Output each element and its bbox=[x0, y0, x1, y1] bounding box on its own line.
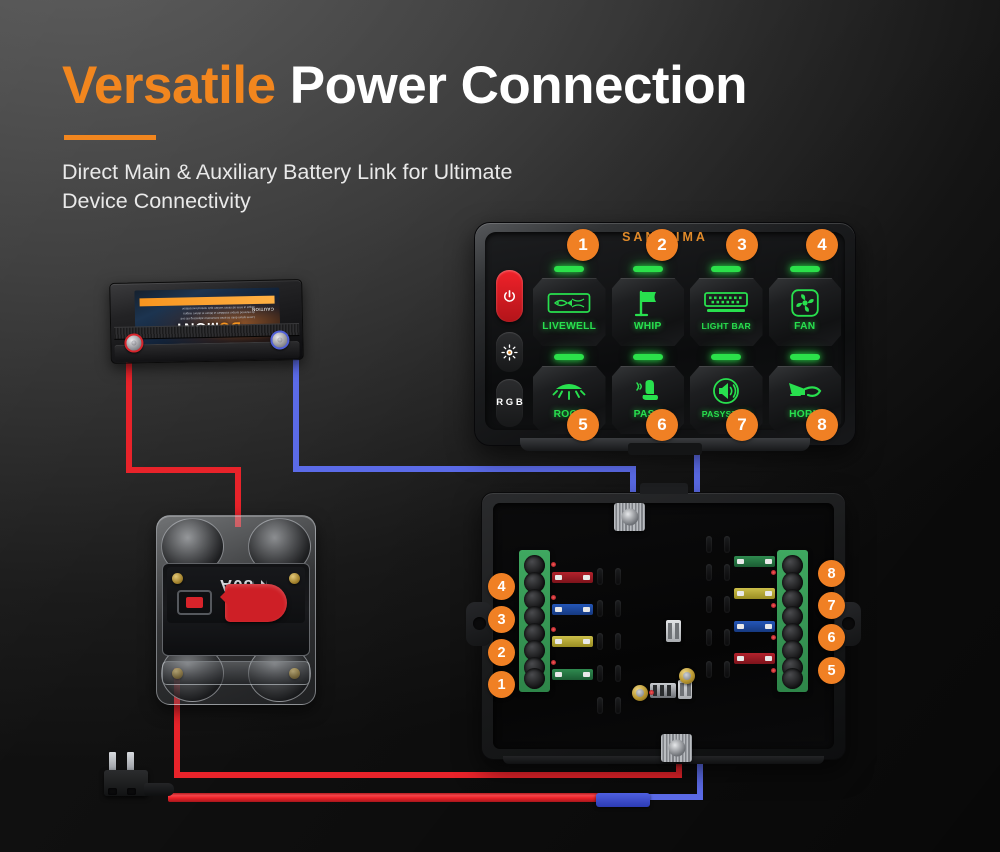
fuse-lamp-right-6 bbox=[771, 635, 776, 640]
breaker-terminal-screw-top-left[interactable] bbox=[172, 573, 183, 584]
terminal-block-right[interactable] bbox=[777, 550, 808, 692]
fusebox-top-tab bbox=[640, 483, 688, 494]
breaker-reset-button[interactable] bbox=[177, 590, 212, 615]
switch-key-2[interactable]: WHIP bbox=[612, 266, 685, 346]
diagram-canvas: Versatile Power Connection Direct Main &… bbox=[0, 0, 1000, 852]
switch-key-1[interactable]: LIVEWELL bbox=[533, 266, 606, 346]
relay-slot bbox=[597, 600, 603, 617]
fuse-left-4[interactable] bbox=[552, 572, 593, 583]
breaker-lower-band bbox=[162, 661, 310, 685]
page-title: Versatile Power Connection bbox=[62, 58, 942, 114]
led-indicator-3 bbox=[711, 266, 741, 272]
terminal-inner bbox=[131, 340, 136, 345]
badge-text: 7 bbox=[737, 415, 746, 435]
flag-icon bbox=[612, 288, 685, 318]
callout-badge-panel-8: 8 bbox=[806, 409, 838, 441]
callout-badge-fusebox-2: 2 bbox=[488, 639, 515, 666]
mount-hole bbox=[842, 617, 855, 630]
mount-hole bbox=[473, 617, 486, 630]
breaker-face: 80A bbox=[162, 563, 310, 656]
callout-badge-fusebox-5: 5 bbox=[818, 657, 845, 684]
title-rest: Power Connection bbox=[290, 56, 747, 115]
callout-badge-panel-7: 7 bbox=[726, 409, 758, 441]
fuse-right-6[interactable] bbox=[734, 621, 775, 632]
callout-badge-fusebox-4: 4 bbox=[488, 573, 515, 600]
relay-slot bbox=[706, 661, 712, 678]
breaker-trip-lever[interactable] bbox=[225, 584, 287, 622]
key-label-4: FAN bbox=[769, 321, 842, 332]
relay-slot bbox=[706, 629, 712, 646]
fuse-left-3[interactable] bbox=[552, 604, 593, 615]
fusebox-mid-connector[interactable] bbox=[666, 620, 681, 642]
badge-text: 2 bbox=[497, 645, 505, 661]
switch-key-4[interactable]: FAN bbox=[769, 266, 842, 346]
relay-slot bbox=[615, 697, 621, 714]
title-highlight: Versatile bbox=[62, 56, 276, 115]
switch-row-top: LIVEWELL WHIP bbox=[530, 266, 844, 346]
wire-red-battery-to-breaker-vertical bbox=[126, 355, 132, 473]
panel-bottom-tab bbox=[628, 443, 702, 455]
badge-text: 5 bbox=[827, 663, 835, 679]
badge-text: 4 bbox=[817, 235, 826, 255]
callout-badge-panel-6: 6 bbox=[646, 409, 678, 441]
fuse-right-5[interactable] bbox=[734, 653, 775, 664]
speaker-icon bbox=[690, 376, 763, 406]
fuse-lamp-right-8 bbox=[771, 570, 776, 575]
badge-text: 3 bbox=[497, 612, 505, 628]
wire-red-battery-to-breaker-horizontal bbox=[126, 467, 241, 473]
badge-text: 5 bbox=[578, 415, 587, 435]
fusebox-top-power-post[interactable] bbox=[614, 503, 645, 531]
fan-icon bbox=[769, 288, 842, 318]
rgb-button-label: R G B bbox=[496, 397, 522, 408]
plug-socket-right bbox=[127, 788, 136, 795]
led-indicator-1 bbox=[554, 266, 584, 272]
led-indicator-4 bbox=[790, 266, 820, 272]
terminal-port[interactable] bbox=[524, 668, 545, 689]
fusebox-status-lamp bbox=[649, 690, 654, 695]
light-bar-icon bbox=[690, 288, 763, 318]
key-cap-3[interactable]: LIGHT BAR bbox=[690, 278, 763, 346]
led-indicator-2 bbox=[633, 266, 663, 272]
relay-slot bbox=[615, 568, 621, 585]
badge-text: 8 bbox=[827, 566, 835, 582]
post-nut bbox=[668, 740, 685, 757]
battery-caution-text: CAUTION bbox=[252, 307, 274, 312]
fuse-left-1[interactable] bbox=[552, 669, 593, 680]
badge-text: 1 bbox=[497, 677, 505, 693]
header: Versatile Power Connection Direct Main &… bbox=[62, 58, 942, 215]
relay-slot bbox=[597, 665, 603, 682]
terminal-block-left[interactable] bbox=[519, 550, 550, 692]
fuse-lamp-left-3 bbox=[551, 595, 556, 600]
add-a-circuit-fuse-tap[interactable] bbox=[100, 752, 152, 808]
fusebox-bottom-power-post[interactable] bbox=[661, 734, 692, 762]
fuse-right-8[interactable] bbox=[734, 556, 775, 567]
nut-inner bbox=[636, 689, 644, 697]
fuse-left-2[interactable] bbox=[552, 636, 593, 647]
key-label-1: LIVEWELL bbox=[533, 321, 606, 332]
fusebox-ground-nut-right[interactable] bbox=[679, 668, 695, 684]
relay-slot bbox=[724, 596, 730, 613]
badge-text: 2 bbox=[657, 235, 666, 255]
key-cap-4[interactable]: FAN bbox=[769, 278, 842, 346]
led-indicator-5 bbox=[554, 354, 584, 360]
subtitle-line-2: Device Connectivity bbox=[62, 187, 942, 216]
terminal-inner bbox=[277, 337, 282, 342]
key-cap-2[interactable]: WHIP bbox=[612, 278, 685, 346]
relay-slot bbox=[724, 629, 730, 646]
circuit-breaker[interactable]: 80A bbox=[156, 515, 316, 705]
breaker-terminal-screw-top-right[interactable] bbox=[289, 573, 300, 584]
badge-text: 1 bbox=[578, 235, 587, 255]
led-indicator-7 bbox=[711, 354, 741, 360]
callout-badge-panel-1: 1 bbox=[567, 229, 599, 261]
wire-blue-battery-vertical bbox=[293, 355, 299, 472]
fuse-lamp-left-4 bbox=[551, 562, 556, 567]
callout-badge-fusebox-3: 3 bbox=[488, 606, 515, 633]
switch-key-3[interactable]: LIGHT BAR bbox=[690, 266, 763, 346]
callout-badge-fusebox-6: 6 bbox=[818, 624, 845, 651]
fuse-lamp-left-1 bbox=[551, 660, 556, 665]
badge-text: 3 bbox=[737, 235, 746, 255]
callout-badge-fusebox-1: 1 bbox=[488, 671, 515, 698]
fuse-lamp-right-7 bbox=[771, 603, 776, 608]
rgb-button[interactable]: R G B bbox=[496, 379, 523, 427]
key-label-3: LIGHT BAR bbox=[690, 321, 763, 331]
seat-icon bbox=[612, 376, 685, 406]
relay-slot bbox=[706, 596, 712, 613]
horn-icon bbox=[769, 376, 842, 406]
fuse-lamp-left-2 bbox=[551, 627, 556, 632]
relay-slot bbox=[724, 564, 730, 581]
badge-text: 4 bbox=[497, 579, 505, 595]
callout-badge-panel-4: 4 bbox=[806, 229, 838, 261]
key-cap-1[interactable]: LIVEWELL bbox=[533, 278, 606, 346]
power-icon bbox=[502, 289, 517, 304]
power-button[interactable] bbox=[496, 270, 523, 322]
badge-text: 8 bbox=[817, 415, 826, 435]
fusebox-ground-nut-left[interactable] bbox=[632, 685, 648, 701]
relay-slot bbox=[597, 697, 603, 714]
connector-pins bbox=[680, 683, 685, 696]
relay-slot bbox=[597, 568, 603, 585]
relay-slot bbox=[597, 633, 603, 650]
callout-badge-fusebox-8: 8 bbox=[818, 560, 845, 587]
main-battery[interactable]: CAUTION Lorem ipsum dolor sit amet conse… bbox=[109, 279, 304, 364]
relay-slot bbox=[706, 536, 712, 553]
subtitle-line-1: Direct Main & Auxiliary Battery Link for… bbox=[62, 158, 942, 187]
post-nut bbox=[621, 509, 638, 526]
badge-text: 7 bbox=[827, 598, 835, 614]
brightness-icon bbox=[501, 344, 518, 361]
callout-badge-fusebox-7: 7 bbox=[818, 592, 845, 619]
nut-inner bbox=[683, 672, 691, 680]
terminal-port[interactable] bbox=[782, 668, 803, 689]
key-label-2: WHIP bbox=[612, 321, 685, 332]
relay-slot bbox=[724, 536, 730, 553]
red-main-power-cable bbox=[168, 793, 602, 802]
badge-text: 6 bbox=[657, 415, 666, 435]
led-indicator-8 bbox=[790, 354, 820, 360]
relay-slot bbox=[724, 661, 730, 678]
dimmer-button[interactable] bbox=[496, 332, 523, 372]
wire-red-breaker-to-fusebox-horizontal bbox=[174, 772, 682, 778]
switch-grid: LIVEWELL WHIP bbox=[530, 266, 844, 432]
callout-badge-panel-5: 5 bbox=[567, 409, 599, 441]
wire-blue-to-splice-horizontal bbox=[644, 794, 703, 800]
callout-badge-panel-2: 2 bbox=[646, 229, 678, 261]
fuse-right-7[interactable] bbox=[734, 588, 775, 599]
relay-fuse-box[interactable] bbox=[481, 492, 846, 760]
rock-light-icon bbox=[533, 376, 606, 406]
relay-slot bbox=[615, 600, 621, 617]
relay-slot bbox=[615, 633, 621, 650]
blue-butt-splice-connector bbox=[596, 793, 650, 807]
title-underline-rule bbox=[64, 135, 156, 140]
callout-badge-panel-3: 3 bbox=[726, 229, 758, 261]
relay-slot bbox=[615, 665, 621, 682]
relay-slot bbox=[706, 564, 712, 581]
reset-button-inner bbox=[186, 597, 203, 608]
fuse-lamp-right-5 bbox=[771, 668, 776, 673]
fish-icon bbox=[533, 288, 606, 318]
connector-pins bbox=[668, 623, 673, 639]
wire-blue-battery-horizontal bbox=[293, 466, 636, 472]
plug-socket-left bbox=[108, 788, 117, 795]
fusebox-dip-switch[interactable] bbox=[650, 683, 676, 698]
plug-cable-boot bbox=[144, 783, 174, 796]
badge-text: 6 bbox=[827, 630, 835, 646]
led-indicator-6 bbox=[633, 354, 663, 360]
